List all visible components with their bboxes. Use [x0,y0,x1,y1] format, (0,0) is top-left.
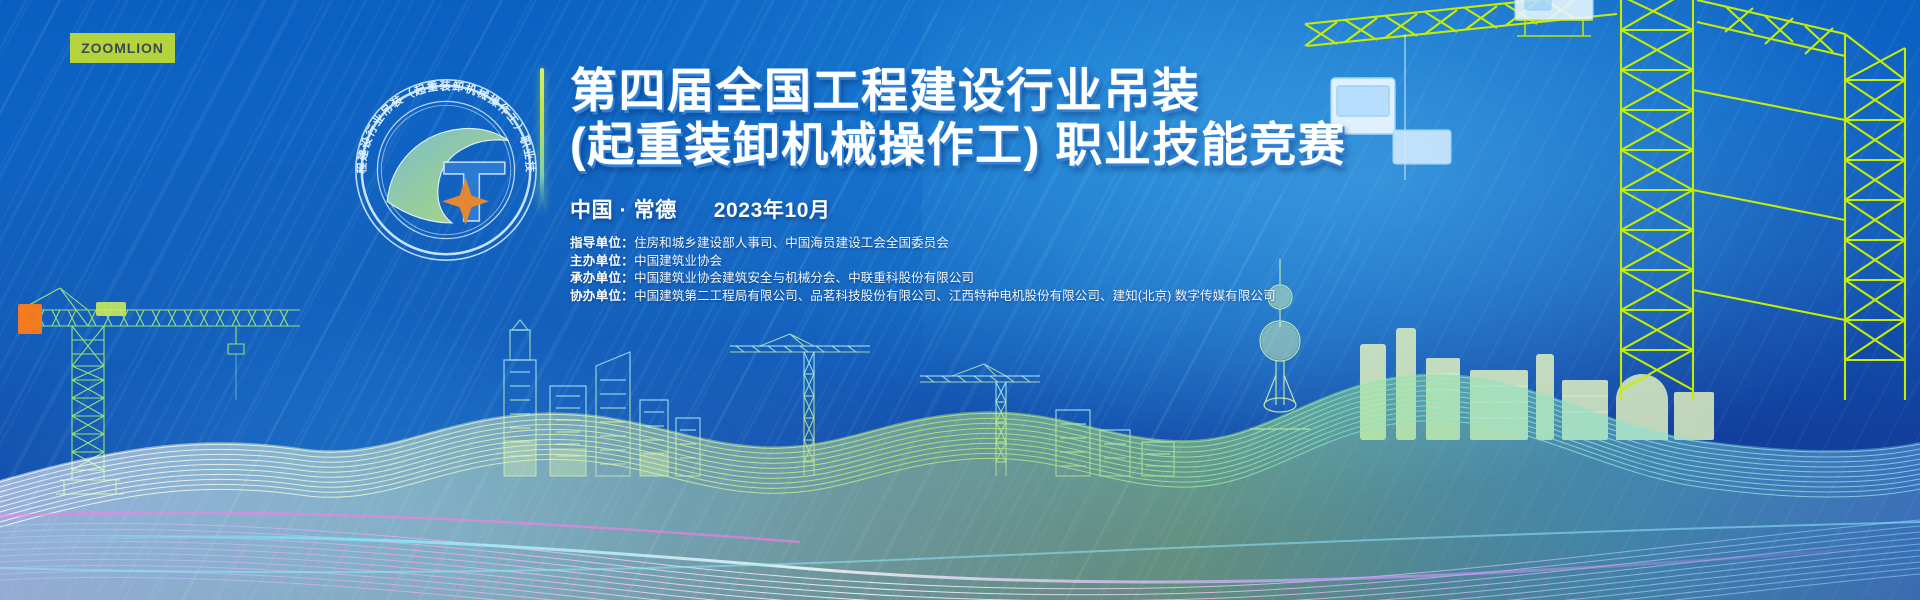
main-title-line-2: (起重装卸机械操作工) 职业技能竞赛 [570,118,1570,172]
banner-poster: ZOOMLION 全国工程建设行业吊装（起重装卸机械操作工）职业技能竞赛 [0,0,1920,600]
event-location: 中国 · 常德 [570,199,677,222]
competition-seal-emblem: 全国工程建设行业吊装（起重装卸机械操作工）职业技能竞赛 [348,72,544,268]
organizer-row: 承办单位：中国建筑业协会建筑安全与机械分会、中联重科股份有限公司 [570,270,1570,288]
organizer-value: 中国建筑业协会建筑安全与机械分会、中联重科股份有限公司 [634,271,974,285]
zoomlion-logo-text: ZOOMLION [81,40,164,56]
organizer-label: 指导单位： [570,236,634,250]
contour-wave-band [0,330,1920,600]
industrial-plant-silhouette [1330,300,1750,440]
zoomlion-logo: ZOOMLION [70,33,175,63]
bottom-left-glow [0,300,1152,600]
organizer-label: 协办单位： [570,289,634,303]
organizer-row: 主办单位：中国建筑业协会 [570,253,1570,271]
organizer-list: 指导单位：住房和城乡建设部人事司、中国海员建设工会全国委员会 主办单位：中国建筑… [570,235,1570,305]
seal-swoosh [387,128,509,222]
event-date: 2023年10月 [714,199,831,222]
headline-block: 第四届全国工程建设行业吊装 (起重装卸机械操作工) 职业技能竞赛 中国 · 常德… [570,64,1570,305]
organizer-label: 承办单位： [570,271,634,285]
main-title-line-1: 第四届全国工程建设行业吊装 [570,64,1570,118]
organizer-value: 住房和城乡建设部人事司、中国海员建设工会全国委员会 [634,236,949,250]
organizer-row: 指导单位：住房和城乡建设部人事司、中国海员建设工会全国委员会 [570,235,1570,253]
organizer-value: 中国建筑业协会 [634,254,722,268]
seal-star-icon [442,178,489,225]
title-divider-bar [540,68,544,210]
organizer-row: 协办单位：中国建筑第二工程局有限公司、品茗科技股份有限公司、江西特种电机股份有限… [570,288,1570,306]
organizer-label: 主办单位： [570,254,634,268]
tower-crane-orange-left [0,280,330,530]
organizer-value: 中国建筑第二工程局有限公司、品茗科技股份有限公司、江西特种电机股份有限公司、建知… [634,289,1276,303]
event-place-date: 中国 · 常德 2023年10月 [570,194,1570,224]
city-skyline-outline [400,290,1200,490]
main-title: 第四届全国工程建设行业吊装 (起重装卸机械操作工) 职业技能竞赛 [570,64,1570,172]
